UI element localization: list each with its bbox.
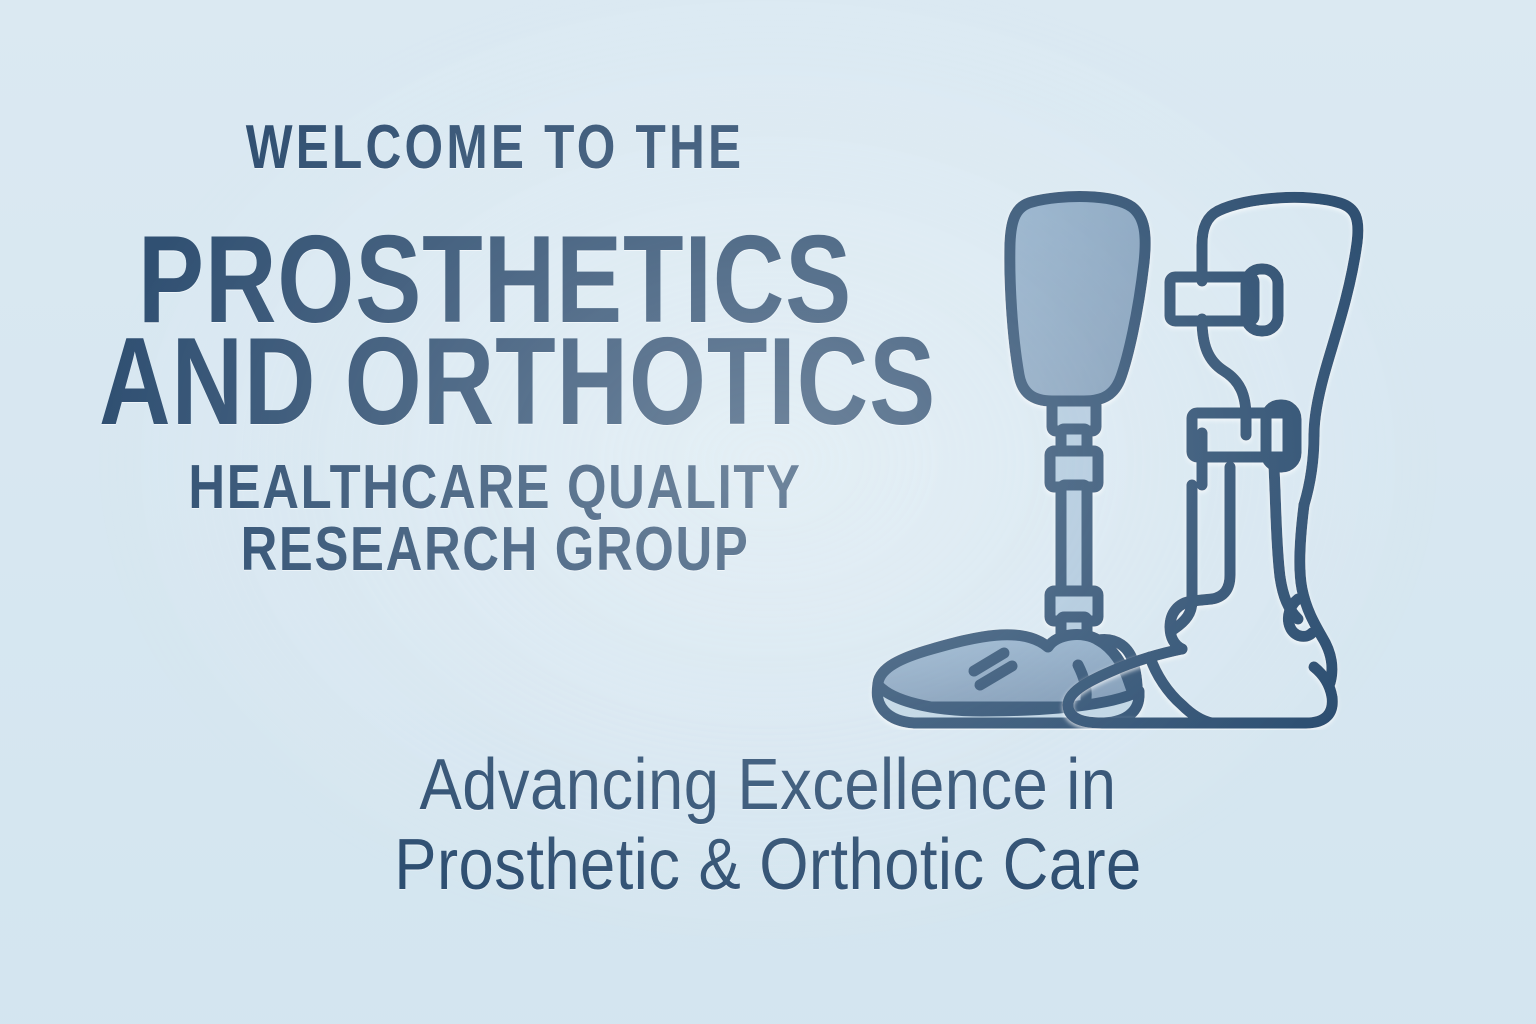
tagline-line-1: Advancing Excellence in xyxy=(92,744,1444,826)
orthosis-foot-vamp xyxy=(1150,657,1212,723)
prosthetic-socket xyxy=(1010,197,1145,401)
orthosis-calf-shell-front xyxy=(1304,435,1314,505)
page-title-line-2: AND ORTHOTICS xyxy=(99,320,891,444)
orthosis-thigh-shell-back xyxy=(1202,211,1218,281)
tagline-line-2: Prosthetic & Orthotic Care xyxy=(92,824,1444,906)
orthosis-leg-contour-front xyxy=(1300,505,1332,683)
welcome-poster: WELCOME TO THE PROSTHETICS AND ORTHOTICS… xyxy=(0,0,1536,1024)
subtitle-line-1: HEALTHCARE QUALITY xyxy=(89,452,901,523)
transtibial-prosthesis xyxy=(877,197,1145,723)
subtitle-line-2: RESEARCH GROUP xyxy=(89,514,901,585)
eyebrow-text: WELCOME TO THE xyxy=(99,112,891,183)
prosthetics-orthotics-illustration xyxy=(862,185,1402,730)
pylon-shaft xyxy=(1061,485,1087,595)
orthosis-upper-buckle xyxy=(1246,269,1278,331)
